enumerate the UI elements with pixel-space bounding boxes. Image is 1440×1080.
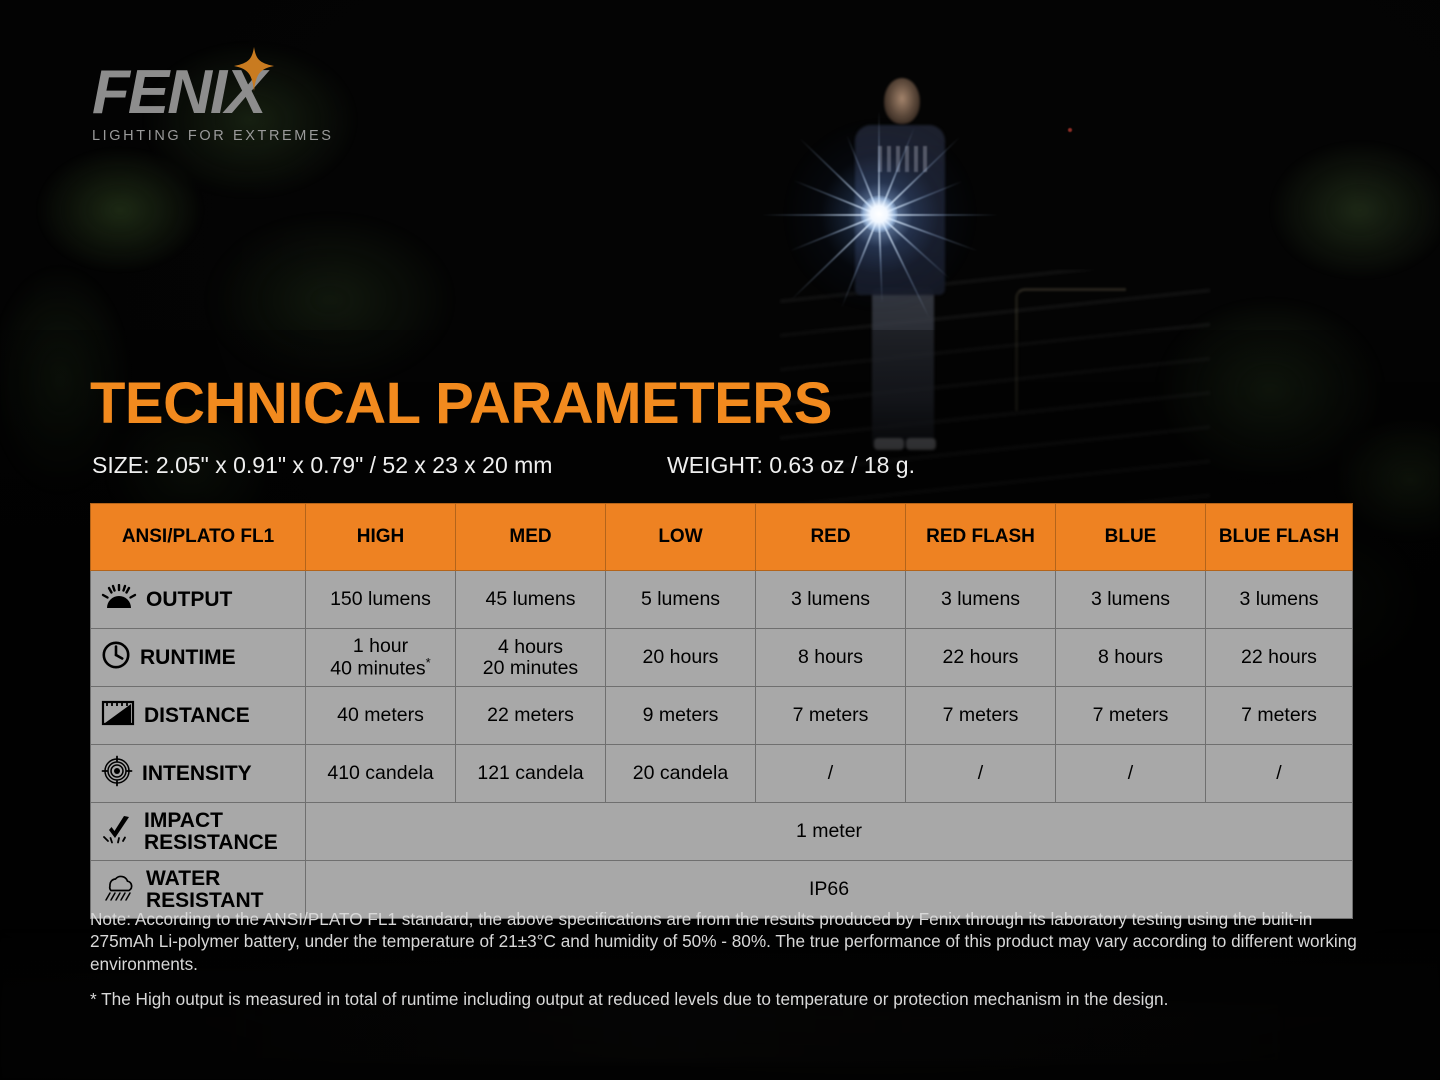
cell-distance-med: 22 meters — [456, 687, 606, 745]
cell-runtime-blue-flash: 22 hours — [1206, 629, 1353, 687]
sunburst-icon — [101, 584, 137, 616]
size-text: SIZE: 2.05" x 0.91" x 0.79" / 52 x 23 x … — [92, 452, 667, 479]
cell-intensity-blue: / — [1056, 745, 1206, 803]
rain-cloud-icon — [101, 872, 137, 908]
cell-output-med: 45 lumens — [456, 571, 606, 629]
star-icon — [231, 46, 277, 92]
impact-label-line1: IMPACT — [144, 809, 223, 832]
cell-runtime-med-l1: 4 hours — [498, 636, 563, 658]
logo-tagline: LIGHTING FOR EXTREMES — [92, 128, 392, 144]
note-main: Note: According to the ANSI/PLATO FL1 st… — [90, 908, 1358, 975]
row-label-impact-resistance: IMPACT RESISTANCE — [91, 803, 306, 861]
column-header-standard: ANSI/PLATO FL1 — [91, 504, 306, 571]
page-title: TECHNICAL PARAMETERS — [90, 370, 832, 437]
row-label-intensity-text: INTENSITY — [142, 763, 252, 784]
cell-distance-blue: 7 meters — [1056, 687, 1206, 745]
cell-intensity-red: / — [756, 745, 906, 803]
cell-intensity-high: 410 candela — [306, 745, 456, 803]
column-header-blue: BLUE — [1056, 504, 1206, 571]
footnote-block: Note: According to the ANSI/PLATO FL1 st… — [90, 908, 1358, 1010]
cell-runtime-med-l2: 20 minutes — [483, 657, 578, 679]
cell-runtime-blue: 8 hours — [1056, 629, 1206, 687]
note-footnote: * The High output is measured in total o… — [90, 988, 1358, 1010]
row-label-output: OUTPUT — [91, 571, 306, 629]
technical-parameters-table: ANSI/PLATO FL1 HIGH MED LOW RED RED FLAS… — [90, 503, 1353, 919]
cell-distance-blue-flash: 7 meters — [1206, 687, 1353, 745]
row-label-runtime-text: RUNTIME — [140, 647, 236, 668]
cell-output-blue: 3 lumens — [1056, 571, 1206, 629]
row-label-intensity: INTENSITY — [91, 745, 306, 803]
cell-intensity-low: 20 candela — [606, 745, 756, 803]
cell-runtime-high: 1 hour 40 minutes* — [306, 629, 456, 687]
cell-runtime-med: 4 hours 20 minutes — [456, 629, 606, 687]
row-label-distance: DISTANCE — [91, 687, 306, 745]
column-header-red-flash: RED FLASH — [906, 504, 1056, 571]
cell-intensity-blue-flash: / — [1206, 745, 1353, 803]
cell-intensity-med: 121 candela — [456, 745, 606, 803]
row-label-runtime: RUNTIME — [91, 629, 306, 687]
runtime-footnote-marker: * — [426, 655, 431, 670]
cell-runtime-high-l1: 1 hour — [353, 635, 408, 657]
table-row-distance: DISTANCE 40 meters 22 meters 9 meters 7 … — [91, 687, 1353, 745]
cell-distance-red-flash: 7 meters — [906, 687, 1056, 745]
cell-distance-low: 9 meters — [606, 687, 756, 745]
column-header-blue-flash: BLUE FLASH — [1206, 504, 1353, 571]
table-row-impact-resistance: IMPACT RESISTANCE 1 meter — [91, 803, 1353, 861]
column-header-high: HIGH — [306, 504, 456, 571]
cell-runtime-low: 20 hours — [606, 629, 756, 687]
distance-beam-icon — [101, 699, 135, 733]
impact-label-line2: RESISTANCE — [144, 831, 278, 854]
cell-output-blue-flash: 3 lumens — [1206, 571, 1353, 629]
target-icon — [101, 755, 133, 793]
column-header-med: MED — [456, 504, 606, 571]
cell-output-low: 5 lumens — [606, 571, 756, 629]
cell-runtime-red-flash: 22 hours — [906, 629, 1056, 687]
cell-distance-red: 7 meters — [756, 687, 906, 745]
row-label-output-text: OUTPUT — [146, 589, 232, 610]
water-label-line1: WATER — [146, 867, 220, 890]
row-label-distance-text: DISTANCE — [144, 705, 250, 726]
cell-runtime-high-l2: 40 minutes — [330, 658, 425, 680]
table-header-row: ANSI/PLATO FL1 HIGH MED LOW RED RED FLAS… — [91, 504, 1353, 571]
impact-check-icon — [101, 814, 135, 850]
row-label-impact-resistance-text: IMPACT RESISTANCE — [144, 810, 278, 853]
table-row-intensity: INTENSITY 410 candela 121 candela 20 can… — [91, 745, 1353, 803]
weight-text: WEIGHT: 0.63 oz / 18 g. — [667, 452, 915, 479]
fenix-logo: FENIX LIGHTING FOR EXTREMES — [92, 62, 392, 154]
clock-icon — [101, 640, 131, 676]
cell-impact-resistance-value: 1 meter — [306, 803, 1353, 861]
cell-output-red: 3 lumens — [756, 571, 906, 629]
cell-intensity-red-flash: / — [906, 745, 1056, 803]
table-row-output: OUTPUT 150 lumens 45 lumens 5 lumens 3 l… — [91, 571, 1353, 629]
cell-output-red-flash: 3 lumens — [906, 571, 1056, 629]
row-label-water-resistant-text: WATER RESISTANT — [146, 868, 263, 911]
cell-distance-high: 40 meters — [306, 687, 456, 745]
column-header-low: LOW — [606, 504, 756, 571]
cell-output-high: 150 lumens — [306, 571, 456, 629]
cell-runtime-red: 8 hours — [756, 629, 906, 687]
table-row-runtime: RUNTIME 1 hour 40 minutes* 4 hours 20 mi… — [91, 629, 1353, 687]
column-header-red: RED — [756, 504, 906, 571]
product-dimensions: SIZE: 2.05" x 0.91" x 0.79" / 52 x 23 x … — [92, 452, 1092, 479]
